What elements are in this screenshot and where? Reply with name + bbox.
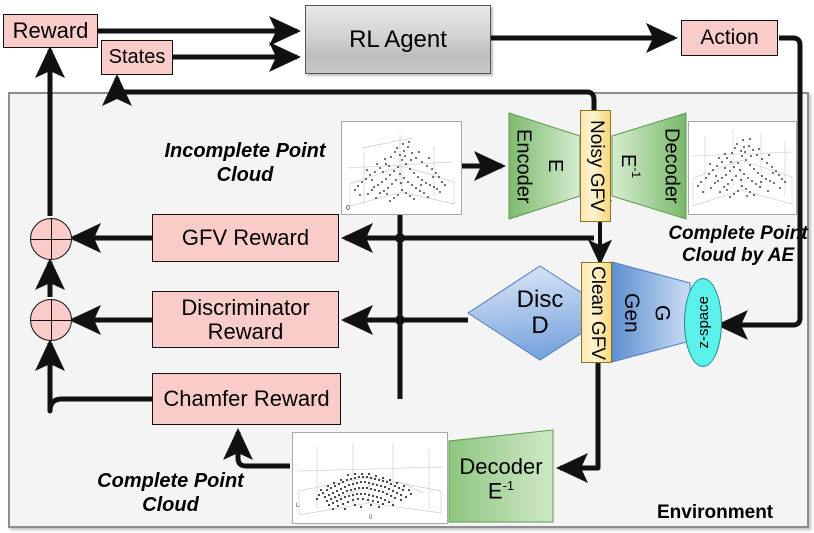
decoder-label-group: E-1 Decoder	[612, 113, 686, 219]
noisy-gfv-box[interactable]: Noisy GFV	[580, 110, 611, 222]
svg-text:0: 0	[346, 205, 350, 212]
disc-label-line2: D	[531, 313, 548, 339]
bottom-decoder-label-group: Decoder E-1	[449, 436, 553, 522]
decoder-sup: -1	[629, 167, 643, 178]
diagram-canvas: Reward States RL Agent Action GFV Reward…	[0, 0, 814, 533]
bottom-decoder-line2: E-1	[488, 479, 514, 503]
discriminator-reward-box[interactable]: Discriminator Reward	[152, 291, 339, 348]
reward-box[interactable]: Reward	[3, 14, 98, 48]
complete-point-cloud-ae-image	[688, 121, 797, 215]
rl-agent-box[interactable]: RL Agent	[305, 5, 491, 74]
z-space-label: z-space	[695, 296, 712, 349]
decoder-label-line2: E-1	[617, 154, 642, 178]
discriminator-reward-label-line2: Reward	[208, 320, 284, 344]
rl-agent-label: RL Agent	[349, 27, 447, 53]
encoder-label-line2: E	[544, 159, 566, 172]
sum-node-bottom	[30, 299, 72, 341]
clean-gfv-box[interactable]: Clean GFV	[581, 262, 612, 363]
bottom-decoder-line1: Decoder	[459, 455, 542, 479]
bottom-decoder-sup: -1	[503, 478, 515, 493]
states-label: States	[109, 47, 166, 69]
z-space-ellipse[interactable]: z-space	[684, 278, 722, 367]
disc-label-line1: Disc	[517, 287, 564, 313]
encoder-label-group: Encoder E	[509, 113, 580, 219]
chamfer-reward-label: Chamfer Reward	[163, 387, 329, 411]
discriminator-reward-label-line1: Discriminator	[181, 296, 309, 320]
decoder-e-text: E	[617, 154, 639, 167]
gfv-reward-label: GFV Reward	[182, 226, 309, 250]
states-box[interactable]: States	[101, 40, 173, 75]
sum-node-top	[30, 218, 72, 260]
gen-label-line2: G	[650, 305, 673, 321]
incomplete-point-cloud-image: 0	[341, 121, 462, 215]
chamfer-reward-box[interactable]: Chamfer Reward	[152, 373, 341, 425]
generator-label-group: Gen G	[612, 266, 690, 360]
action-box[interactable]: Action	[681, 20, 778, 56]
reward-label: Reward	[13, 19, 89, 43]
complete-point-cloud-image: L 0	[292, 432, 448, 524]
gen-label-line1: Gen	[619, 293, 642, 333]
clean-gfv-label: Clean GFV	[586, 266, 607, 360]
svg-text:0: 0	[369, 515, 373, 521]
discriminator-label-group[interactable]: Disc D	[490, 275, 590, 351]
action-label: Action	[700, 27, 758, 50]
noisy-gfv-label: Noisy GFV	[585, 120, 606, 212]
svg-text:L: L	[296, 503, 300, 509]
encoder-label-line1: Encoder	[512, 129, 534, 204]
gfv-reward-box[interactable]: GFV Reward	[152, 214, 339, 262]
decoder-label-line1: Decoder	[660, 128, 682, 204]
